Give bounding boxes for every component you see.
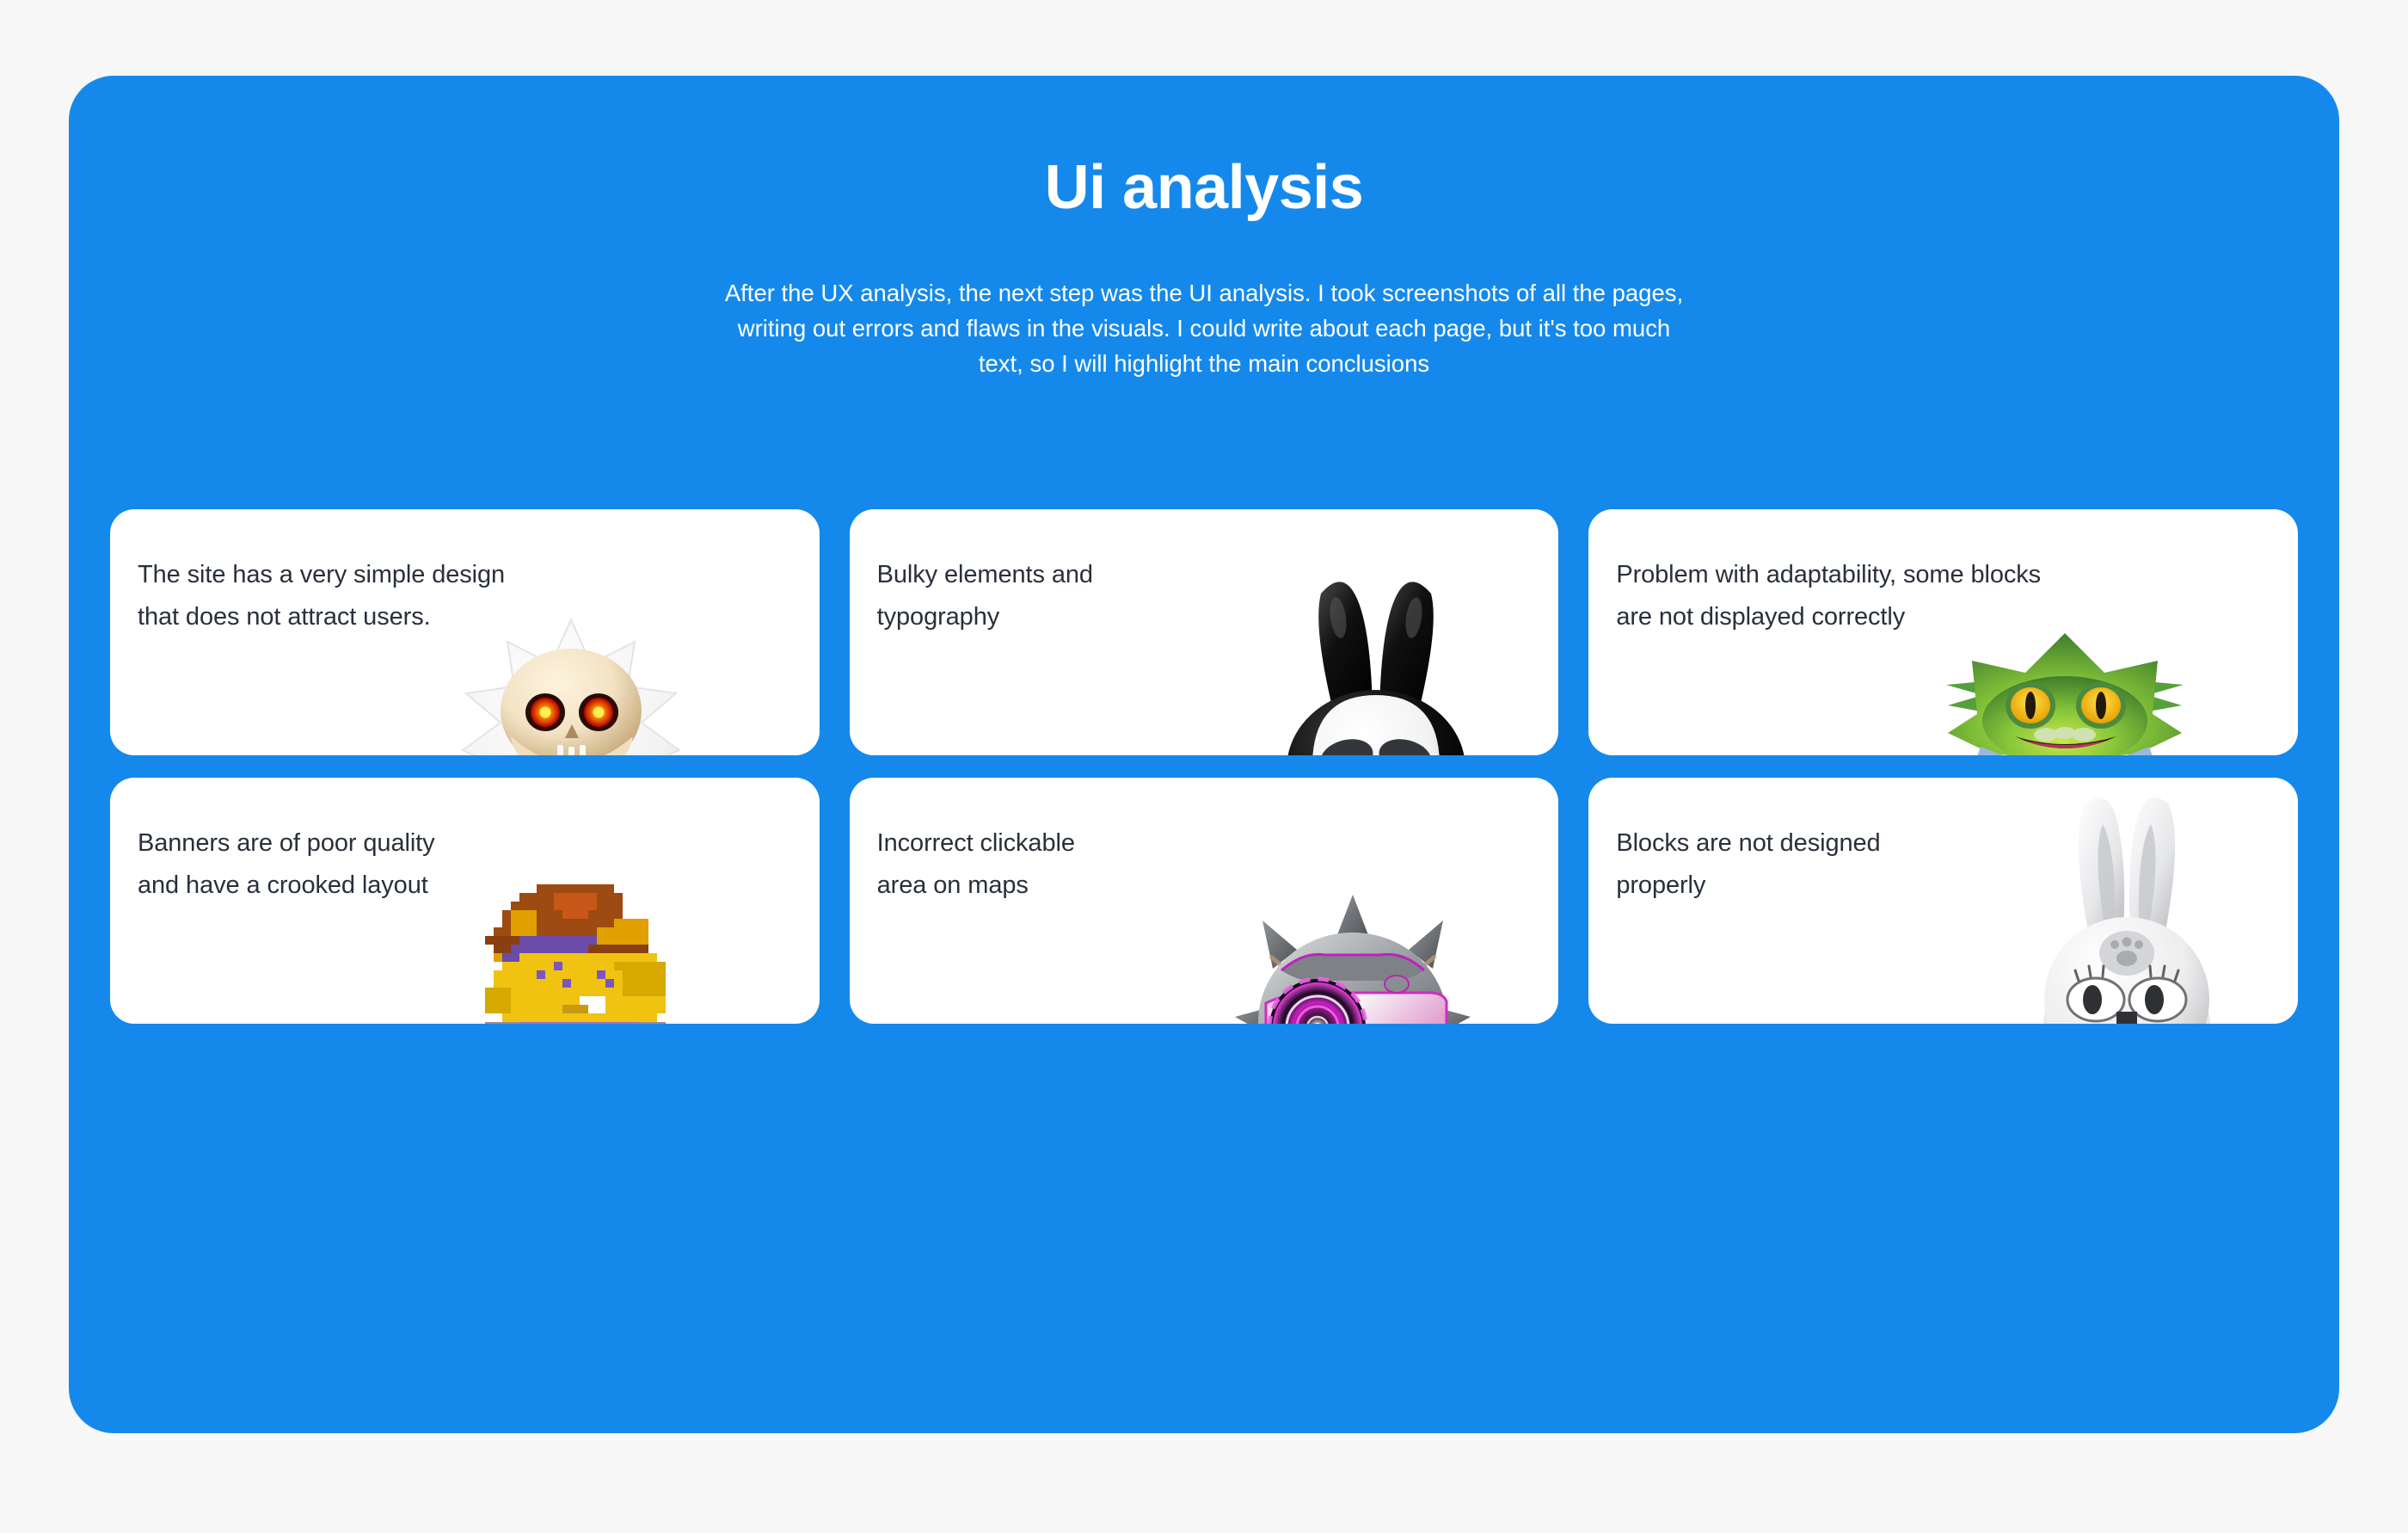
insight-card[interactable]: Blocks are not designed properly [1588,778,2298,1024]
insight-card-text: Bulky elements and typography [877,554,1093,638]
pixelated-scarecrow-character-illustration [459,867,717,1024]
header: Ui analysis After the UX analysis, the n… [69,76,2339,381]
insight-card-text: The site has a very simple design that d… [138,554,505,638]
insight-card[interactable]: Incorrect clickable area on maps [850,778,1559,1024]
insight-card-text: Incorrect clickable area on maps [877,822,1075,907]
slide-page: Ui analysis After the UX analysis, the n… [0,0,2408,1533]
insight-card-text: Banners are of poor quality and have a c… [138,822,435,907]
black-bunny-ghost-mask-character-illustration [1238,564,1514,755]
spiky-robot-visor-character-illustration [1228,888,1477,1024]
white-bunny-character-illustration [2006,785,2247,1024]
insight-card-text: Problem with adaptability, some blocks a… [1616,554,2041,638]
insight-card[interactable]: Banners are of poor quality and have a c… [110,778,820,1024]
insight-card[interactable]: The site has a very simple design that d… [110,509,820,755]
insight-card[interactable]: Problem with adaptability, some blocks a… [1588,509,2298,755]
insight-card-grid: The site has a very simple design that d… [110,509,2298,1024]
blue-content-panel: Ui analysis After the UX analysis, the n… [69,76,2339,1433]
page-title: Ui analysis [69,157,2339,219]
green-fish-monster-jersey-character-illustration [1936,631,2194,755]
insight-card-text: Blocks are not designed properly [1616,822,1880,907]
insight-card[interactable]: Bulky elements and typography [850,509,1559,755]
page-subtitle: After the UX analysis, the next step was… [722,275,1686,381]
